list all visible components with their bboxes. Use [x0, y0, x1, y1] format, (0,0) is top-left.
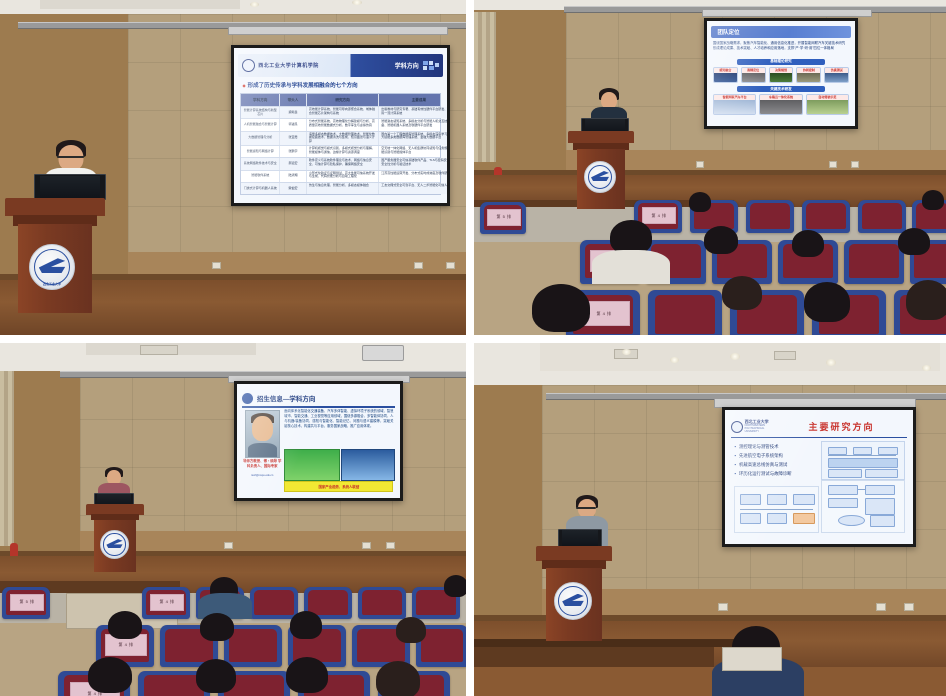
- slide-bullet-item: 先进航空电子系统架构: [734, 451, 813, 460]
- table-col-header: 带头人: [280, 94, 307, 106]
- audience-head: [722, 276, 762, 310]
- ceiling-downlight: [352, 0, 362, 5]
- lectern-top: [568, 131, 634, 143]
- audience-head: [444, 575, 466, 597]
- diagram-node: [838, 515, 865, 526]
- diagram-node: [870, 515, 895, 527]
- table-cell: 智能姿态感知系统、多模态分析与智能人机交互技术与装备、智能机器人系统及软硬件平台…: [379, 119, 447, 130]
- audience-head: [922, 190, 944, 210]
- photo-collage: 西北工业大学计算机学院 学科方向 形成了历史传承与学科发展相融合的七个方向 学科…: [0, 0, 946, 696]
- lectern: 西北工业大学: [5, 198, 105, 313]
- projection-screen: 招生信息—学科方向 导师方教授、博・硕导 学科负责人、国际专家 itecf@nw…: [234, 381, 403, 501]
- diagram-connector: [858, 489, 865, 490]
- university-logo-icon: [731, 421, 743, 433]
- slide-main-research-directions: 西北工业大学 NORTHWESTERN POLYTECHNICAL UNIVER…: [725, 410, 913, 544]
- audience-head: [532, 284, 590, 332]
- seat-row-label: 第 4 排: [160, 599, 175, 605]
- slide-decoration-squares-icon: [423, 61, 439, 71]
- photo-panel-bottom-left: 招生信息—学科方向 导师方教授、博・硕导 学科负责人、国际专家 itecf@nw…: [0, 343, 466, 696]
- wall-socket: [414, 262, 423, 269]
- photo-panel-bottom-right: 西北工业大学 NORTHWESTERN POLYTECHNICAL UNIVER…: [474, 343, 946, 696]
- auditorium-seat: 第 5 排: [480, 202, 526, 234]
- audience-head: [792, 230, 824, 257]
- diagram-node: [740, 494, 760, 505]
- audience-head: [906, 280, 946, 320]
- auditorium-seat: 第 4 排: [142, 587, 190, 619]
- seat-cushion: [254, 590, 293, 615]
- glasses-icon: [576, 507, 596, 509]
- slide-card: 协同控制: [796, 67, 821, 84]
- slide-university-name: 西北工业大学计算机学院: [258, 62, 319, 69]
- glasses-icon: [57, 156, 84, 158]
- lectern-top: [536, 546, 612, 561]
- emblem-label: 西北工业大学: [30, 282, 74, 286]
- table-cell: 张亚霞: [280, 132, 307, 145]
- slide-band-label: 国家产业趋势、系统人联结: [319, 484, 360, 489]
- table-cell: 梁晰鑫: [280, 107, 307, 118]
- seat-row-label: 第 4 排: [652, 213, 667, 219]
- university-emblem-icon: 西北工业大学: [29, 244, 75, 290]
- table-cell: 智能感知与网络计算: [241, 146, 280, 157]
- auditorium-seat: [858, 200, 906, 233]
- lecture-hall-scene: 西北工业大学计算机学院 学科方向 形成了历史传承与学科发展相融合的七个方向 学科…: [0, 0, 466, 335]
- table-cell: 门类式计算与机器人系统: [241, 183, 280, 194]
- table-row: 系统网络软件技术与安全 郝远宏 软件定义与系统软件理论与技术、网络与信息安全、可…: [241, 158, 439, 170]
- audience-head: [610, 220, 652, 254]
- seat-row-sign: 第 4 排: [642, 207, 677, 224]
- diagram-connector: [740, 509, 813, 510]
- slide-header-bar: 西北工业大学计算机学院 学科方向: [238, 54, 443, 77]
- slide-discipline-directions: 西北工业大学计算机学院 学科方向 形成了历史传承与学科发展相融合的七个方向 学科…: [234, 48, 447, 203]
- slide-paragraph: 面向体系化智能化交通装备、汽车多体智能、虚拟环境子系统的领域、智慧城市、智能交通…: [284, 409, 393, 429]
- diagram-node: [865, 469, 898, 478]
- seat-row-sign: 第 5 排: [10, 594, 45, 611]
- slide-card: 决策规划: [769, 67, 794, 84]
- laptop-screen: [40, 176, 101, 198]
- table-cell: 海量多模态数据技术、大数据管理技术、智能化数据挖掘技术、数据清洗与集成、知识图谱…: [307, 132, 379, 145]
- table-cell: 柴伯宏: [280, 183, 307, 194]
- slide-title: 团队定位: [711, 28, 739, 36]
- slide-team-positioning: 团队定位 围绕国家战略需求，聚焦汽车智能化、通用信息化推进，开展智能网联汽车关键…: [707, 21, 855, 126]
- slide-section-label-a: 基础理论研究: [737, 59, 826, 65]
- seat-cushion: [421, 629, 464, 662]
- diagram-node: [793, 513, 815, 524]
- projection-screen-housing: [228, 26, 448, 35]
- slide-image-blue: [341, 449, 395, 481]
- audience-head: [286, 657, 328, 693]
- ceiling-recess: [40, 0, 240, 9]
- table-col-header: 学科方向: [241, 94, 280, 106]
- slide-diagram-bottom-right: [821, 480, 906, 533]
- slide-card-image: [714, 100, 755, 114]
- slide-diagram-top-right: [821, 441, 906, 481]
- table-col-header: 主要成果: [379, 94, 447, 106]
- seat-row-label: 第 5 排: [20, 599, 35, 605]
- table-row: 人机智能融合与智能计算 郭进民 分布式智能系统、高效物理化分解建模与分析、高质量…: [241, 119, 439, 131]
- slide-card: 感知融合: [713, 67, 738, 84]
- audience-head: [704, 226, 738, 254]
- wall-socket: [904, 603, 914, 611]
- slide-title: 学科方向: [395, 61, 423, 70]
- wall-socket: [362, 542, 371, 549]
- lecture-hall-scene: 团队定位 围绕国家战略需求，聚焦汽车智能化、通用信息化推进，开展智能网联汽车关键…: [474, 0, 946, 335]
- slide-card: 智能网联汽车平台: [713, 94, 756, 115]
- diagram-node: [740, 513, 760, 524]
- projection-screen: 西北工业大学 NORTHWESTERN POLYTECHNICAL UNIVER…: [722, 407, 916, 547]
- slide-logo-text: 西北工业大学 NORTHWESTERN POLYTECHNICAL UNIVER…: [745, 420, 772, 433]
- lectern: [536, 546, 612, 641]
- slide-card-image: [797, 73, 820, 83]
- seat-cushion: [144, 675, 203, 696]
- wall-socket: [224, 542, 233, 549]
- slide-card-image: [770, 73, 793, 83]
- seat-row-sign: 第 4 排: [150, 594, 185, 611]
- slide-bullet-item: 环历化运行测试与故障诊断: [734, 469, 813, 478]
- slide-card-row-b: 智能网联汽车平台 车路云一体化系统 自动驾驶示范: [713, 94, 849, 115]
- seat-cushion: [750, 203, 789, 229]
- slide-body-line-2: 形成理论成果、技术突破、人才培养和应用落地，支撑“产·学·研·用”四位一体格局: [713, 46, 849, 51]
- table-cell: 江苏高性能运算开发、分布式实时成熟度及软件研制: [379, 171, 447, 182]
- seat-row-sign: 第 5 排: [487, 209, 520, 226]
- seat-row-label: 第 4 排: [597, 311, 612, 317]
- auditorium-seat: [358, 587, 406, 619]
- slide-card: 自动驾驶示范: [806, 94, 849, 115]
- audience-head: [376, 661, 420, 696]
- portrait-face: [252, 416, 273, 441]
- table-cell: 仿生与信息处理、智能分析、多模态媒体融合: [307, 183, 379, 194]
- slide-highlight-band: 国家产业趋势、系统人联结: [284, 481, 393, 492]
- audience-head: [804, 282, 850, 322]
- ceiling-vent: [774, 351, 796, 360]
- auditorium-seat: [648, 290, 722, 335]
- table-cell: 分布式智能系统、高效物理化分解建模与分析、高质量高效智能数据式分析、数字孪生与虚…: [307, 119, 379, 130]
- auditorium-seat: [250, 587, 298, 619]
- slide-bullet-list: 测控理论与测管技术 先进航空电子系统架构 机载高速总线仿真与测试 环历化运行测试…: [734, 442, 813, 478]
- window-curtain: [0, 371, 14, 546]
- ceiling-downlight: [826, 359, 836, 366]
- listener-laptop: [722, 647, 782, 671]
- slide-bullet-item: 机载高速总线仿真与测试: [734, 460, 813, 469]
- seat-row-label: 第 4 排: [119, 642, 134, 648]
- seat-cushion: [229, 629, 277, 662]
- table-cell: 智能计算系统结构与新型芯片: [241, 107, 280, 118]
- slide-card-image: [714, 73, 737, 83]
- photo-panel-top-right: 团队定位 围绕国家战略需求，聚焦汽车智能化、通用信息化推进，开展智能网联汽车关键…: [474, 0, 946, 335]
- slide-title-bar: 团队定位: [711, 26, 850, 38]
- ceiling-downlight: [730, 353, 740, 360]
- diagram-node: [828, 485, 858, 495]
- wall-socket: [212, 262, 221, 269]
- table-cell: 人机智能融合与智能计算: [241, 119, 280, 130]
- ceiling-downlight: [622, 349, 631, 355]
- slide-title: 招生信息—学科方向: [257, 393, 316, 403]
- audience-head: [898, 228, 930, 255]
- table-row: 智能计算系统结构与新型芯片 梁晰鑫 高效能计算系统、智能可导向源聚合系统、域体融…: [241, 107, 439, 119]
- diagram-node: [828, 458, 898, 468]
- seat-cushion: [862, 203, 901, 229]
- audience-seating: 第 5 排 第 4 排 第 4 排: [0, 583, 466, 696]
- projection-screen-housing: [702, 9, 872, 17]
- diagram-node: [793, 494, 815, 505]
- university-logo-icon: [242, 59, 255, 72]
- audience-head: [200, 613, 234, 641]
- ceiling-vent: [140, 345, 178, 355]
- diagram-node: [767, 494, 787, 505]
- wall-socket: [718, 603, 728, 611]
- table-cell: 空天地一体化网络、无人机集群协同感知与任务规划、智能识别与智能媒体平台: [379, 146, 447, 157]
- diagram-node: [865, 485, 895, 495]
- projection-screen: 团队定位 围绕国家战略需求，聚焦汽车智能化、通用信息化推进，开展智能网联汽车关键…: [704, 18, 858, 129]
- table-row: 智能感知与网络计算 张鹏宇 计算机视觉与模式识别、多模式视觉分析与理解、智能媒体…: [241, 146, 439, 158]
- auditorium-seat: 第 5 排: [2, 587, 50, 619]
- university-emblem-icon: [554, 582, 592, 620]
- stage-front: [474, 647, 714, 669]
- wall-socket: [446, 262, 455, 269]
- projection-screen: 西北工业大学计算机学院 学科方向 形成了历史传承与学科发展相融合的七个方向 学科…: [231, 45, 450, 206]
- table-cell: 计算机视觉与模式识别、多模式视觉分析与理解、智能媒体与通信、边缘计算与资源调度: [307, 146, 379, 157]
- slide-body-text: 围绕国家战略需求，聚焦汽车智能化、通用信息化推进，开展智能网联汽车关键技术研究 …: [713, 41, 849, 51]
- table-cell: 国内第一个工程数据库管理系统、多模态深度学习产品与大赋能多类数据库管理系统、金融…: [379, 132, 447, 145]
- slide-header: 招生信息—学科方向: [242, 391, 395, 408]
- ceiling-recess: [540, 343, 940, 371]
- table-cell: 出版教材与研究专著、基础有效性硬件平台研发、形成国际一流计算系统: [379, 107, 447, 118]
- professor-portrait: [245, 410, 280, 458]
- wall-socket: [851, 161, 859, 168]
- slide-title: 主要研究方向: [778, 418, 906, 435]
- auditorium-seat: [802, 200, 850, 233]
- audience-head: [689, 192, 711, 212]
- lecture-hall-scene: 招生信息—学科方向 导师方教授、博・硕导 学科负责人、国际专家 itecf@nw…: [0, 343, 466, 696]
- auditorium-seat: [844, 240, 904, 284]
- audience-shoulders: [592, 250, 670, 284]
- table-cell: 系统网络软件技术与安全: [241, 158, 280, 169]
- professor-email: itecf@nwpu.edu.cn: [242, 474, 283, 477]
- table-row: 门类式计算与机器人系统 柴伯宏 仿生与信息处理、智能分析、多模态媒体融合 工友交…: [241, 183, 439, 194]
- wall-socket: [829, 161, 837, 168]
- audience-seating: 第 5 排 第 4 排 第 4 排: [474, 198, 946, 335]
- lectern-top: [5, 198, 105, 216]
- table-cell: 工友交翔式安全可靠平台、无人二步智能化可信人机平台: [379, 183, 447, 194]
- laptop: [34, 174, 106, 200]
- diagram-node: [828, 469, 861, 478]
- photo-panel-top-left: 西北工业大学计算机学院 学科方向 形成了历史传承与学科发展相融合的七个方向 学科…: [0, 0, 466, 335]
- table-cell: 国产服务器安全可信基础软件产品、TLS与密码安全协议安全性分析与验证技术: [379, 158, 447, 169]
- university-emblem-icon: [584, 161, 616, 193]
- table-row: 大数据管理与分析 张亚霞 海量多模态数据技术、大数据管理技术、智能化数据挖掘技术…: [241, 132, 439, 146]
- audience-head: [88, 657, 132, 693]
- table-col-header: 研究方向: [307, 94, 379, 106]
- diagram-node: [853, 447, 872, 455]
- audience-head: [108, 611, 142, 639]
- audience-head: [396, 617, 426, 643]
- table-cell: 张鹏宇: [280, 146, 307, 157]
- university-logo-icon: [242, 393, 253, 404]
- slide-card-image: [825, 73, 848, 83]
- lecture-hall-scene: 西北工业大学 NORTHWESTERN POLYTECHNICAL UNIVER…: [474, 343, 946, 696]
- lectern: [86, 504, 144, 572]
- diagram-node: [767, 513, 787, 524]
- table-cell: 郭进民: [280, 119, 307, 130]
- laptop-screen: [562, 530, 599, 545]
- window-curtain: [474, 12, 496, 162]
- table-cell: 郝远宏: [280, 158, 307, 169]
- professor-name-line: 导师方教授、博・硕导 学科负责人、国际专家: [242, 459, 283, 469]
- table-cell: 智能软件系统: [241, 171, 280, 182]
- table-cell: 大数据管理与分析: [241, 132, 280, 145]
- table-cell: 高效能计算系统、智能可导向源聚合系统、域体融合智能芯片架构与系统: [307, 107, 379, 118]
- slide-card-image: [807, 100, 848, 114]
- seat-cushion: [308, 590, 347, 615]
- table-cell: 陆清翔: [280, 171, 307, 182]
- slide-section-label-b: 关键技术研发: [737, 86, 826, 92]
- slide-bullet-item: 测控理论与测管技术: [734, 442, 813, 451]
- wall-socket: [696, 161, 704, 168]
- slide-card: 仿真测试: [824, 67, 849, 84]
- auditorium-floor: [474, 667, 946, 696]
- table-header-row: 学科方向 带头人 研究方向 主要成果: [241, 94, 439, 107]
- table-row: 智能软件系统 陆清翔 小形式化验证与证明测试、高大性能可信系统开发与生成、代码智…: [241, 171, 439, 183]
- seat-row-label: 第 5 排: [497, 214, 512, 220]
- slide-card: 高精定位: [741, 67, 766, 84]
- slide-table: 学科方向 带头人 研究方向 主要成果 智能计算系统结构与新型芯片 梁晰鑫 高效能…: [240, 93, 440, 195]
- seat-cushion: [655, 295, 716, 334]
- seat-cushion: [362, 590, 401, 615]
- slide-card-image: [742, 73, 765, 83]
- slide-card: 车路云一体化系统: [759, 94, 802, 115]
- diagram-node: [828, 447, 847, 455]
- slide-admission-info: 招生信息—学科方向 导师方教授、博・硕导 学科负责人、国际专家 itecf@nw…: [237, 384, 400, 498]
- slide-logo: 西北工业大学 NORTHWESTERN POLYTECHNICAL UNIVER…: [731, 418, 772, 435]
- slide-rule: [731, 437, 908, 438]
- seat-cushion: [806, 203, 845, 229]
- ceiling-downlight: [922, 365, 931, 371]
- slide-diagram-bottom-left: [734, 486, 819, 532]
- wall-socket: [386, 542, 395, 549]
- audience-head: [290, 611, 322, 639]
- slide-card-image: [760, 100, 801, 114]
- slide-bullet-heading: 形成了历史传承与学科发展相融合的七个方向: [243, 81, 358, 89]
- slide-image-green: [284, 449, 340, 481]
- laptop: [558, 529, 602, 547]
- diagram-connector: [828, 455, 896, 456]
- university-emblem-icon: [100, 530, 129, 559]
- diagram-node: [878, 447, 898, 455]
- portrait-body: [248, 443, 277, 457]
- auditorium-seat: [746, 200, 794, 233]
- slide-logo-subname: NORTHWESTERN POLYTECHNICAL UNIVERSITY: [745, 425, 772, 434]
- slide-card-row-a: 感知融合 高精定位 决策规划: [713, 67, 849, 84]
- ceiling-downlight: [250, 2, 259, 7]
- seat-cushion: [849, 244, 898, 278]
- table-cell: 软件定义与系统软件理论与技术、网络与信息安全、可信计算与隐私保护、确保网络安全: [307, 158, 379, 169]
- ceiling-projector: [362, 345, 404, 361]
- wall-panel-left: [474, 385, 542, 615]
- diagram-node: [828, 498, 858, 508]
- ceiling-downlight: [670, 357, 679, 363]
- audience-head: [196, 659, 236, 693]
- wall-socket: [876, 603, 886, 611]
- diagram-node: [865, 498, 895, 515]
- table-cell: 小形式化验证与证明测试、高大性能可信系统开发与生成、代码智能分析与自动工程化: [307, 171, 379, 182]
